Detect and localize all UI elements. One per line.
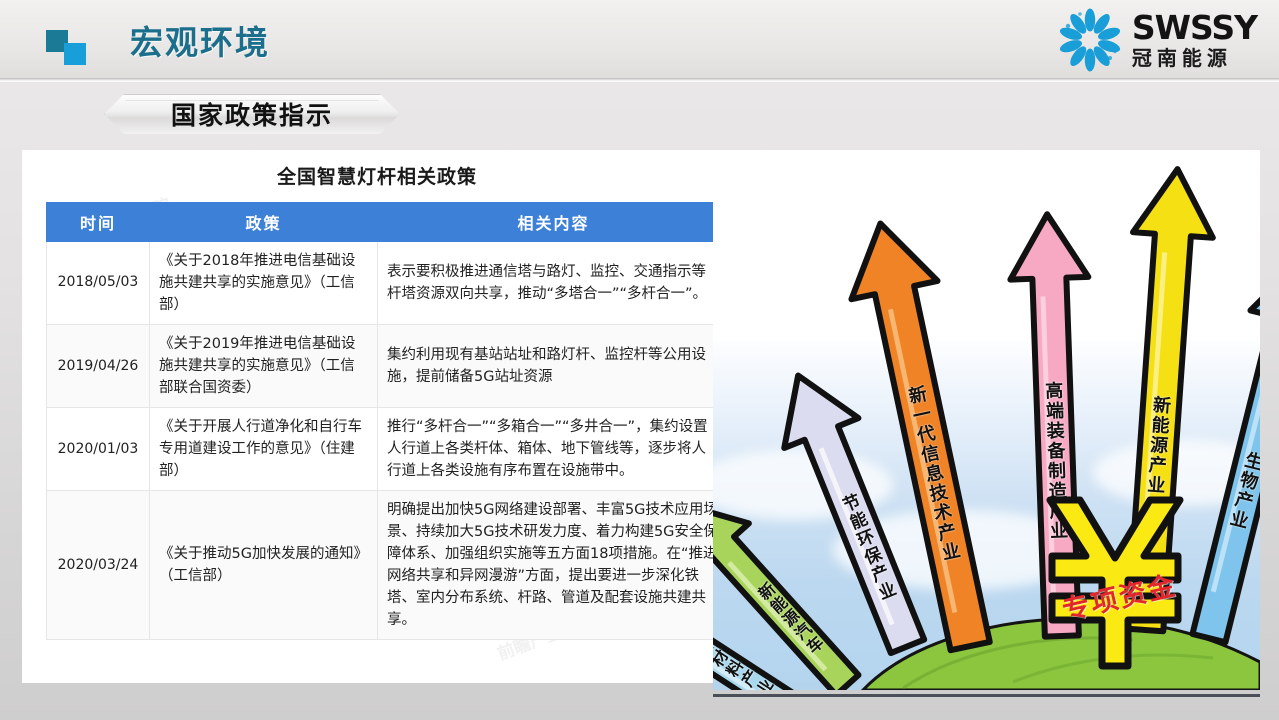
cell-content: 表示要积极推进通信塔与路灯、监控、交通指示等杆塔资源双向共享，推动“多塔合一”“… [378, 242, 730, 325]
cell-content: 集约利用现有基站站址和路灯杆、监控杆等公用设施，提前储备5G站址资源 [378, 325, 730, 408]
cell-policy: 《关于推动5G加快发展的通知》（工信部） [150, 491, 378, 640]
cell-policy: 《关于2018年推进电信基础设施共建共享的实施意见》（工信部） [150, 242, 378, 325]
table-row: 2019/04/26 《关于2019年推进电信基础设施共建共享的实施意见》（工信… [47, 325, 730, 408]
yuan-symbol-special-funds: 专项资金 [1008, 480, 1223, 680]
policy-table: 时间 政策 相关内容 2018/05/03 《关于2018年推进电信基础设施共建… [46, 202, 730, 640]
table-header-row: 时间 政策 相关内容 [47, 203, 730, 242]
slide-header: 宏观环境 [0, 0, 1279, 80]
table-title: 全国智慧灯杆相关政策 [24, 162, 730, 189]
cell-time: 2019/04/26 [47, 325, 150, 408]
brand-name-cn: 冠南能源 [1132, 49, 1232, 69]
cell-content: 明确提出加快5G网络建设部署、丰富5G技术应用场景、持续加大5G技术研发力度、着… [378, 491, 730, 640]
illustration-bottom-edge [713, 690, 1260, 694]
table-row: 2020/03/24 《关于推动5G加快发展的通知》（工信部） 明确提出加快5G… [47, 491, 730, 640]
water-droplet-flower-icon [1058, 8, 1122, 72]
section-banner-label: 国家政策指示 [104, 94, 400, 134]
table-row: 2018/05/03 《关于2018年推进电信基础设施共建共享的实施意见》（工信… [47, 242, 730, 325]
cell-time: 2020/01/03 [47, 408, 150, 491]
column-header-content: 相关内容 [378, 203, 730, 242]
policy-table-block: 全国智慧灯杆相关政策 前瞻产业研究院 前瞻产业研究院 前瞻产业研究院 前瞻产业研… [24, 150, 730, 683]
cell-time: 2020/03/24 [47, 491, 150, 640]
brand-name-en: SWSSY [1132, 11, 1257, 44]
table-row: 2020/01/03 《关于开展人行道净化和自行车专用道建设工作的意见》（住建部… [47, 408, 730, 491]
brand-logo: SWSSY 冠南能源 [1058, 6, 1257, 74]
column-header-time: 时间 [47, 203, 150, 242]
column-header-policy: 政策 [150, 203, 378, 242]
cell-time: 2018/05/03 [47, 242, 150, 325]
cell-content: 推行“多杆合一”“多箱合一”“多井合一”，集约设置人行道上各类杆体、箱体、地下管… [378, 408, 730, 491]
page-title: 宏观环境 [130, 20, 270, 65]
square-icon-light [64, 43, 86, 65]
header-divider [0, 78, 1279, 83]
cell-policy: 《关于开展人行道净化和自行车专用道建设工作的意见》（住建部） [150, 408, 378, 491]
cell-policy: 《关于2019年推进电信基础设施共建共享的实施意见》（工信部联合国资委） [150, 325, 378, 408]
industry-arrows-illustration: 节能环保产业 新一代信息技术产业 高端装备制造产业 新能源产业 [713, 150, 1260, 697]
slide: 宏观环境 [0, 0, 1279, 720]
